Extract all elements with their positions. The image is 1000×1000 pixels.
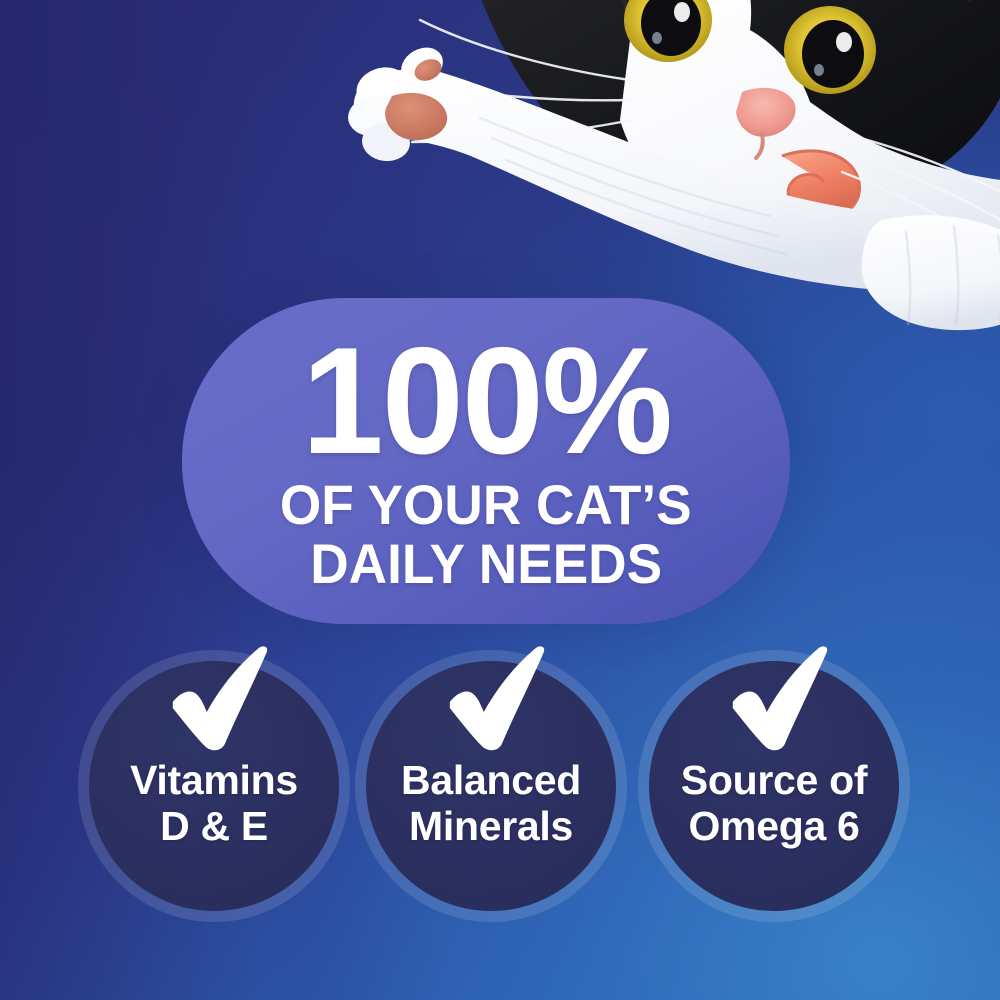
cat-eye-right [784,6,876,94]
benefit-badge-minerals: Balanced Minerals [355,650,627,922]
benefit-badge-row: Vitamins D & E Balanced Minerals [0,640,1000,930]
badge-label: Source of Omega 6 [638,758,910,850]
badge-label: Vitamins D & E [78,758,350,850]
badge-label-line-2: D & E [84,804,344,850]
badge-label-line-2: Omega 6 [644,804,904,850]
badge-label-line-1: Balanced [401,757,581,803]
stat-value: 100% [301,333,670,470]
promo-graphic: 100% OF YOUR CAT’S DAILY NEEDS Vitamins … [0,0,1000,1000]
badge-label-line-2: Minerals [361,804,621,850]
badge-label-line-1: Vitamins [130,757,298,803]
badge-label-line-1: Source of [681,757,867,803]
check-icon [159,644,279,752]
check-icon [719,644,839,752]
benefit-badge-omega: Source of Omega 6 [638,650,910,922]
stat-subtitle-line-2: DAILY NEEDS [310,535,662,593]
badge-label: Balanced Minerals [355,758,627,850]
benefit-badge-vitamins: Vitamins D & E [78,650,350,922]
daily-needs-panel: 100% OF YOUR CAT’S DAILY NEEDS [182,298,790,624]
check-icon [436,644,556,752]
stat-subtitle-line-1: OF YOUR CAT’S [280,476,692,534]
cat-second-paw [862,215,1000,330]
